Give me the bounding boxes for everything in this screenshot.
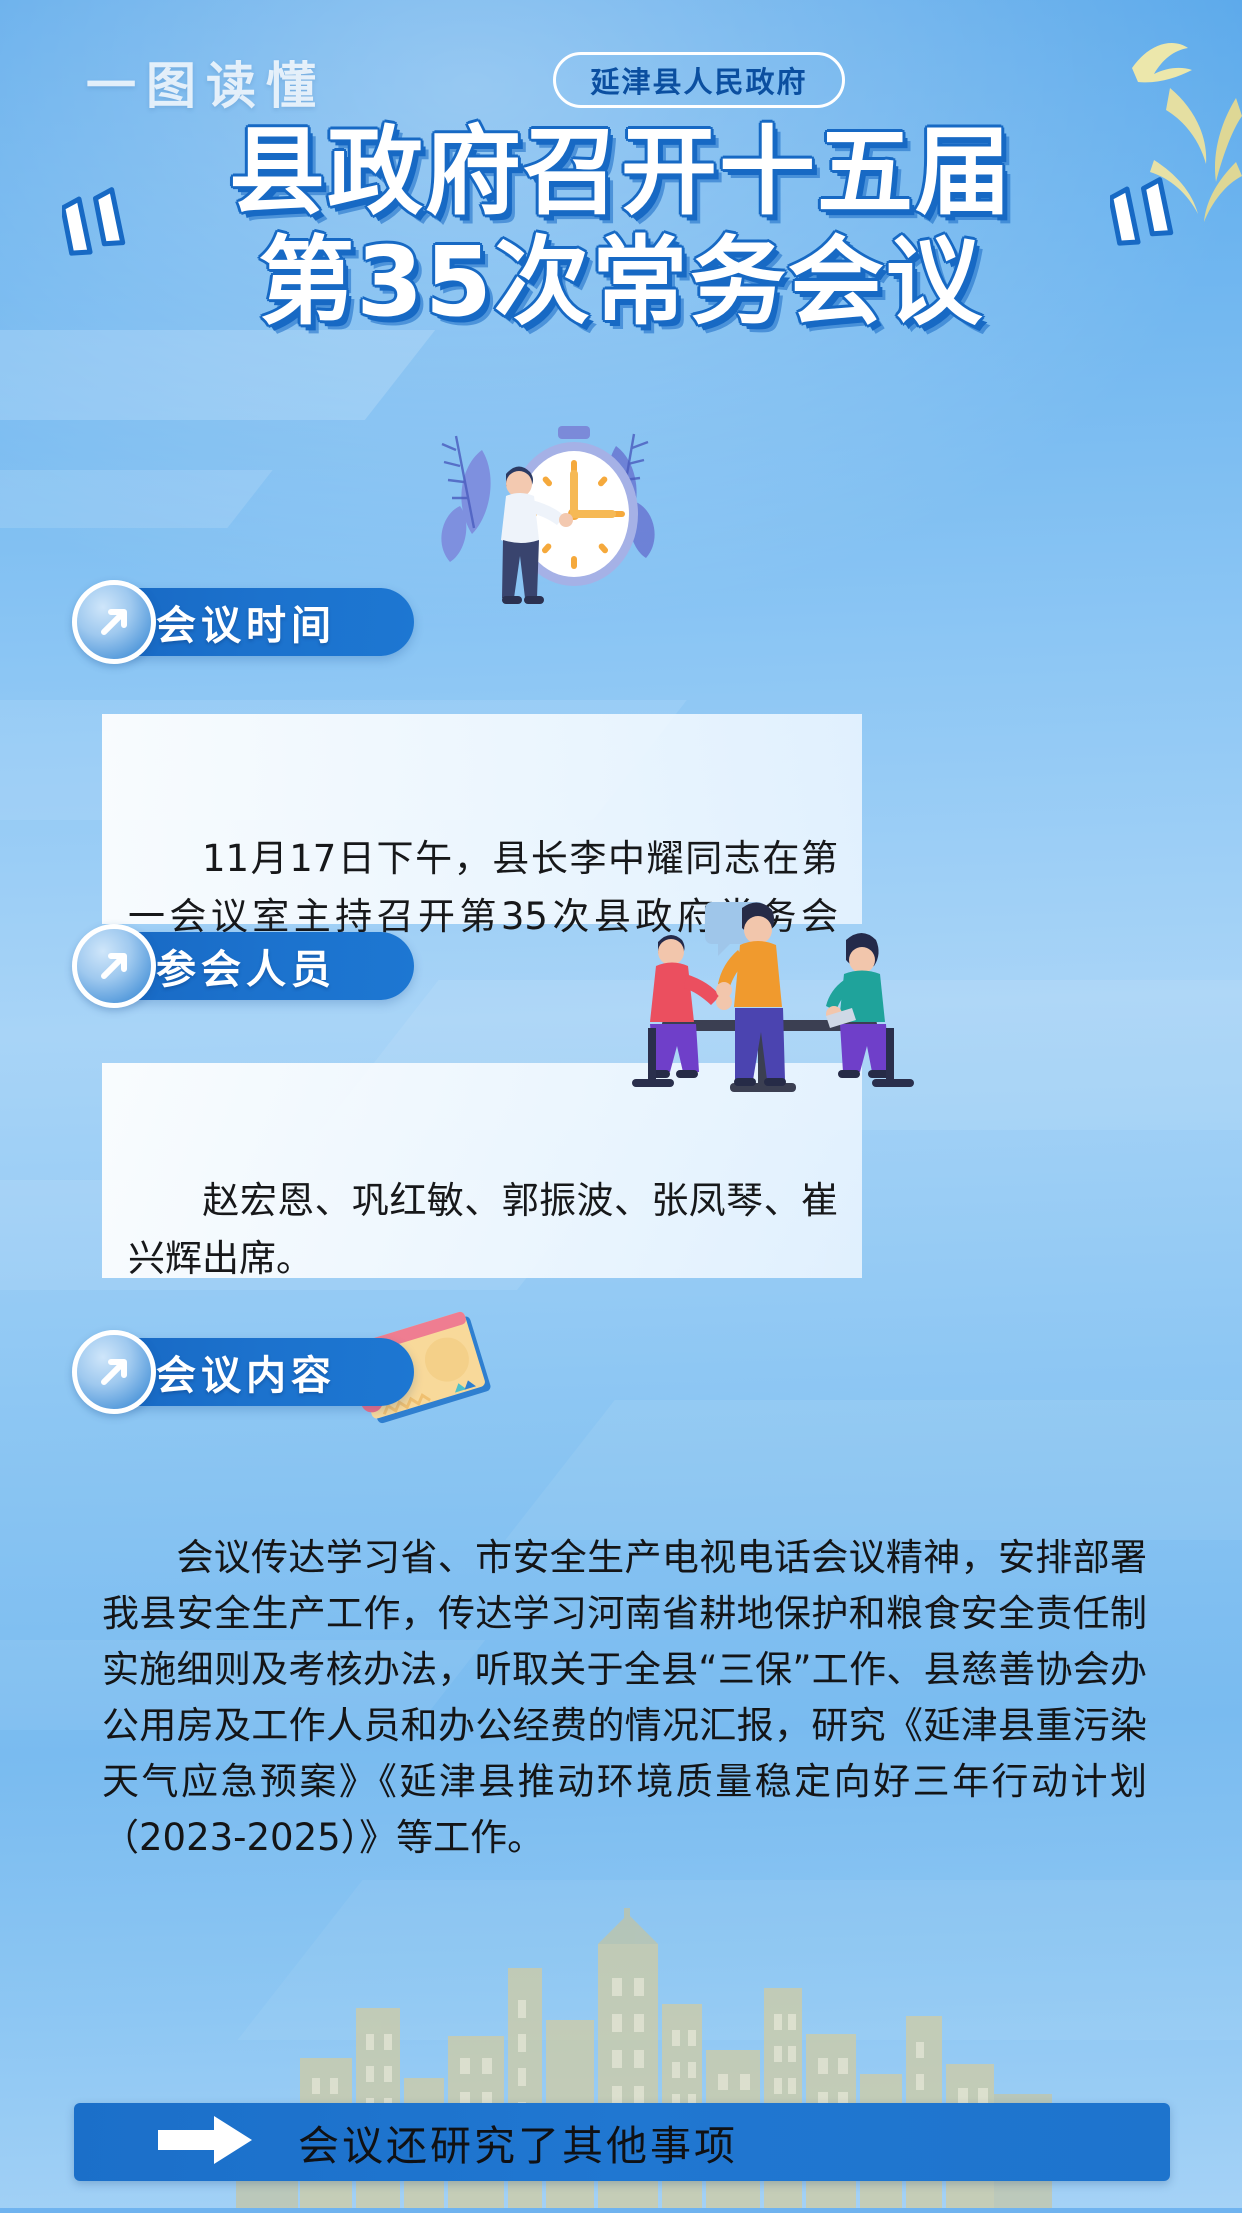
- arrow-up-right-icon: [72, 580, 156, 664]
- meeting-content-body-text: 会议传达学习省、市安全生产电视电话会议精神，安排部署我县安全生产工作，传达学习河…: [102, 1536, 1147, 1859]
- section-badge-meeting-time[interactable]: 会议时间: [78, 588, 414, 656]
- title-line-2-text: 第35次常务会议: [258, 230, 984, 334]
- section-badge-label: 会议内容: [156, 1343, 336, 1401]
- quote-open-icon: [62, 185, 148, 276]
- arrow-right-icon: [158, 2114, 254, 2171]
- arrow-up-right-icon: [72, 1330, 156, 1414]
- section-badge-attendees[interactable]: 参会人员: [78, 932, 414, 1000]
- government-badge: 延津县人民政府: [553, 52, 845, 108]
- section-badge-label: 参会人员: [156, 937, 336, 995]
- read-at-a-glance-label: 一图读懂: [86, 46, 326, 118]
- footer-banner[interactable]: 会议还研究了其他事项: [74, 2103, 1170, 2181]
- footer-text: 会议还研究了其他事项: [298, 2112, 738, 2172]
- clock-person-icon: [420, 410, 670, 615]
- title-line-2: 第35次常务会议: [0, 230, 1242, 334]
- section-badge-meeting-content[interactable]: 会议内容: [78, 1338, 414, 1406]
- section-badge-label: 会议时间: [156, 593, 336, 651]
- background-streak: [0, 330, 435, 420]
- poster-title: 县政府召开十五届 第35次常务会议: [0, 120, 1242, 334]
- meeting-table-icon: [630, 900, 930, 1120]
- government-badge-label: 延津县人民政府: [590, 59, 807, 101]
- attendees-body: 赵宏恩、巩红敏、郭振波、张凤琴、崔兴辉出席。: [128, 1172, 838, 1288]
- background-streak: [0, 470, 273, 528]
- title-line-1-text: 县政府召开十五届: [229, 120, 1013, 224]
- attendees-body-text: 赵宏恩、巩红敏、郭振波、张凤琴、崔兴辉出席。: [128, 1179, 838, 1280]
- meeting-content-body: 会议传达学习省、市安全生产电视电话会议精神，安排部署我县安全生产工作，传达学习河…: [102, 1530, 1147, 1866]
- background-streak: [505, 1400, 1242, 1540]
- arrow-up-right-icon: [72, 924, 156, 1008]
- title-line-1: 县政府召开十五届: [0, 120, 1242, 224]
- quote-close-icon: [1110, 175, 1196, 266]
